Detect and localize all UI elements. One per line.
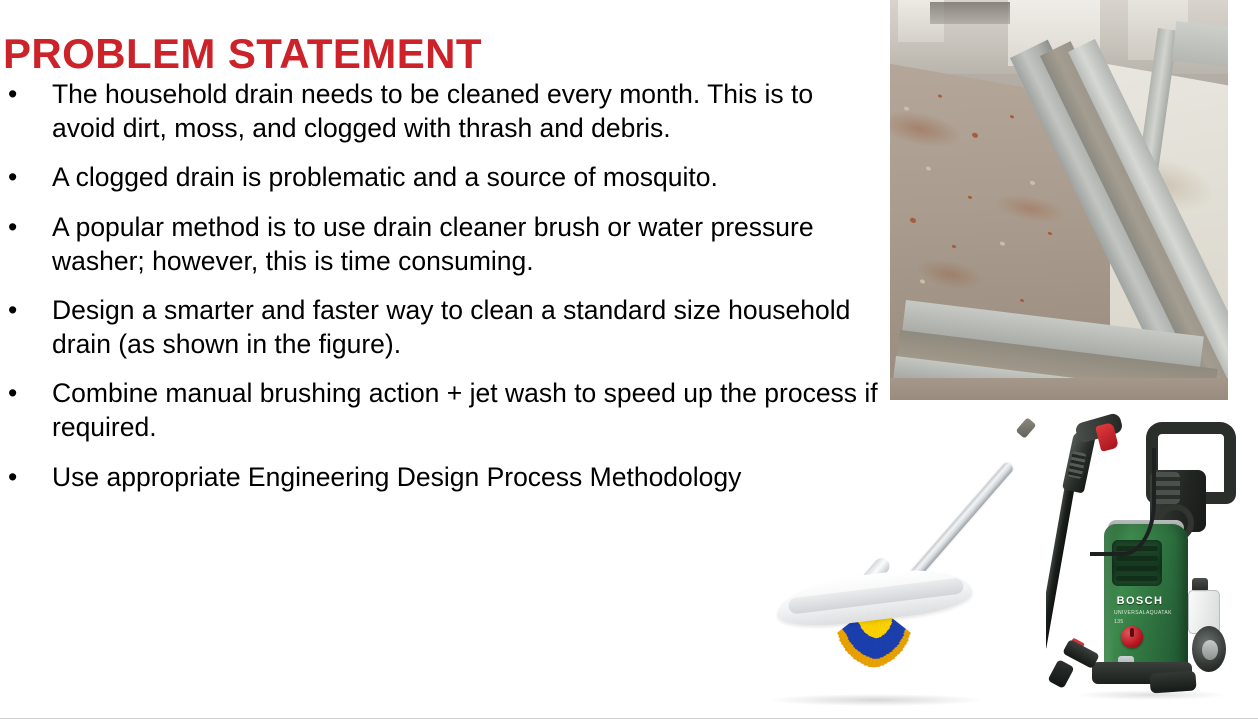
drain-photo-far-kerb — [1172, 21, 1228, 67]
brush-handle-tip — [1016, 417, 1037, 438]
washer-nozzle-tip — [1047, 659, 1074, 689]
bullet-point-icon: • — [8, 78, 28, 112]
drain-photo-debris-pebble — [910, 217, 916, 223]
drain-photo-debris-pebble — [904, 106, 909, 111]
drain-photo-debris-pebble — [972, 132, 978, 138]
drain-photo-wall-shadow — [930, 2, 1010, 24]
washer-grill-slot — [1116, 566, 1158, 571]
bosch-pressure-washer-photo: BOSCH UNIVERSALAQUATAK 135 — [1046, 404, 1254, 716]
list-item-label: Design a smarter and faster way to clean… — [52, 294, 880, 361]
washer-grill-slot — [1116, 556, 1158, 561]
list-item-label: A popular method is to use drain cleaner… — [52, 211, 880, 278]
list-item: • A clogged drain is problematic and a s… — [0, 161, 880, 195]
list-item: • The household drain needs to be cleane… — [0, 78, 880, 145]
page-title: PROBLEM STATEMENT — [3, 30, 863, 77]
drain-photo-debris-pebble — [1048, 232, 1052, 236]
washer-hose-holder — [1152, 472, 1180, 504]
washer-dial-notch — [1130, 628, 1134, 637]
list-item-label: A clogged drain is problematic and a sou… — [52, 161, 880, 195]
washer-brand-label: BOSCH — [1114, 594, 1166, 609]
bullet-point-icon: • — [8, 211, 28, 245]
washer-spray-lance — [1046, 467, 1078, 652]
drain-photo-debris-pebble — [920, 279, 925, 284]
deck-scrub-brush-photo — [748, 408, 1058, 713]
washer-model-label: UNIVERSALAQUATAK 135 — [1114, 609, 1172, 618]
list-item-label: The household drain needs to be cleaned … — [52, 78, 880, 145]
list-item: • A popular method is to use drain clean… — [0, 211, 880, 278]
brush-shadow — [770, 694, 982, 706]
drain-photo-debris-pebble — [1020, 299, 1024, 303]
drain-photo-bottom-soil — [890, 378, 1228, 400]
drain-photo-debris-pebble — [952, 245, 956, 249]
bullet-point-icon: • — [8, 161, 28, 195]
list-item: • Design a smarter and faster way to cle… — [0, 294, 880, 361]
drain-photo-debris-pebble — [1000, 241, 1005, 246]
bullet-point-icon: • — [8, 377, 28, 411]
washer-grill-slot — [1116, 576, 1158, 581]
drain-photo-debris-pebble — [1030, 180, 1035, 185]
drain-photo-debris-pebble — [1010, 115, 1014, 119]
bullet-point-icon: • — [8, 461, 28, 495]
washer-wheel-hub — [1202, 640, 1218, 660]
washer-shadow — [1076, 690, 1226, 700]
slide-canvas: PROBLEM STATEMENT • The household drain … — [0, 0, 1258, 719]
bullet-point-icon: • — [8, 294, 28, 328]
drain-photo-debris-pebble — [926, 166, 931, 171]
drain-photo-debris-pebble — [938, 94, 942, 98]
drain-photo-debris-pebble — [968, 196, 972, 200]
concrete-household-drain-photo — [890, 0, 1228, 400]
washer-high-pressure-hose — [1090, 448, 1156, 556]
